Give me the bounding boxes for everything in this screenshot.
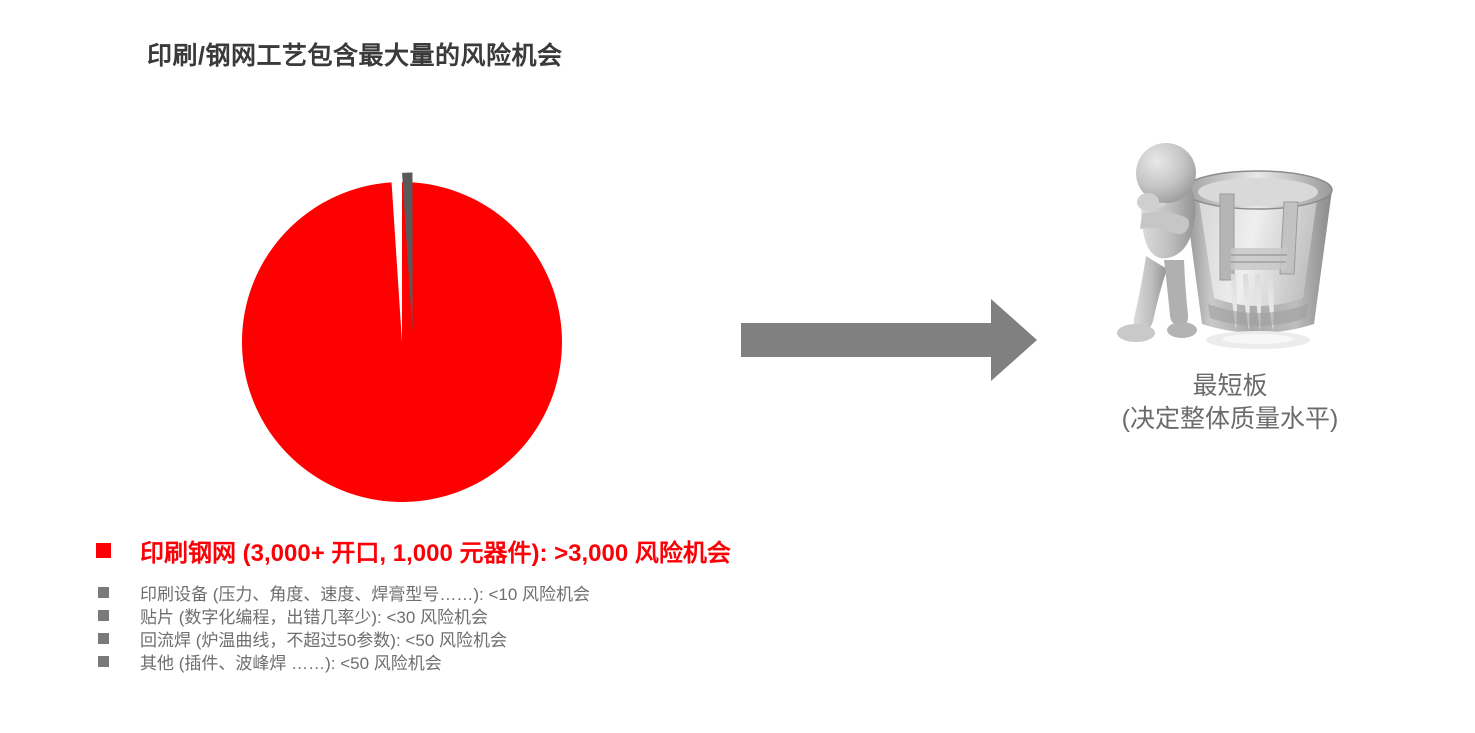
person-foot-1: [1117, 324, 1155, 342]
legend-item-label: 其他 (插件、波峰焊 ……): <50 风险机会: [140, 649, 442, 674]
legend: 印刷钢网 (3,000+ 开口, 1,000 元器件): >3,000 风险机会…: [96, 533, 996, 673]
barrel-illustration-svg: [1098, 128, 1363, 373]
photo-strip: [1084, 484, 1384, 574]
legend-item: 回流焊 (炉温曲线，不超过50参数): <50 风险机会: [96, 627, 996, 649]
illustration-caption: 最短板 (决定整体质量水平): [1065, 370, 1395, 436]
pie-chart-svg: [225, 140, 595, 515]
pcb-solder-defect-photo-2: [1251, 484, 1383, 571]
caption-line-2: (决定整体质量水平): [1065, 403, 1395, 436]
person-foot-2: [1167, 322, 1197, 338]
caption-line-1: 最短板: [1065, 370, 1395, 403]
water-level-band: [1231, 248, 1288, 270]
square-bullet-grey-icon: [98, 633, 109, 644]
square-bullet-grey-icon: [98, 610, 109, 621]
pcb-solder-defect-photo-1: [1084, 484, 1250, 571]
legend-item: 其他 (插件、波峰焊 ……): <50 风险机会: [96, 650, 996, 672]
right-arrow-icon: [735, 295, 1045, 385]
legend-sub-list: 印刷设备 (压力、角度、速度、焊膏型号……): <10 风险机会 贴片 (数字化…: [96, 581, 996, 672]
page-title: 印刷/钢网工艺包含最大量的风险机会: [147, 36, 562, 72]
square-bullet-grey-icon: [98, 656, 109, 667]
legend-item-label: 印刷设备 (压力、角度、速度、焊膏型号……): <10 风险机会: [140, 580, 590, 605]
legend-item-label: 贴片 (数字化编程，出错几率少): <30 风险机会: [140, 603, 488, 628]
legend-item: 印刷设备 (压力、角度、速度、焊膏型号……): <10 风险机会: [96, 581, 996, 603]
leaking-barrel-with-person-icon: [1098, 128, 1363, 373]
square-bullet-red-icon: [96, 543, 111, 558]
legend-item-label: 回流焊 (炉温曲线，不超过50参数): <50 风险机会: [140, 626, 507, 651]
barrel-rim-inner: [1198, 178, 1318, 206]
person-leg-2: [1164, 260, 1188, 325]
pie-slice-printing-stencil: [242, 182, 562, 502]
person-hand: [1137, 193, 1159, 211]
person-legs: [1134, 256, 1167, 330]
legend-item: 贴片 (数字化编程，出错几率少): <30 风险机会: [96, 604, 996, 626]
water-puddle-highlight: [1222, 334, 1294, 344]
pie-chart: [225, 140, 595, 515]
legend-item-main-label: 印刷钢网 (3,000+ 开口, 1,000 元器件): >3,000 风险机会: [140, 533, 731, 568]
legend-item-main: 印刷钢网 (3,000+ 开口, 1,000 元器件): >3,000 风险机会: [96, 533, 996, 567]
square-bullet-grey-icon: [98, 587, 109, 598]
flow-arrow: [735, 295, 1045, 385]
